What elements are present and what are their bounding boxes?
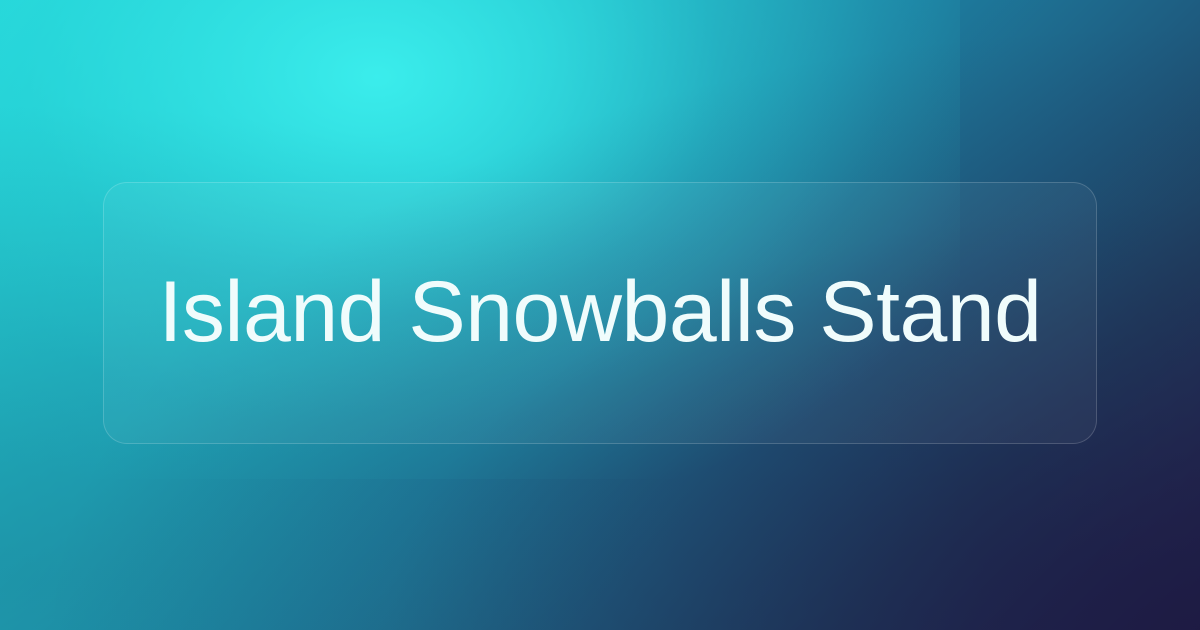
title-card: Island Snowballs Stand: [103, 182, 1097, 444]
share-banner: Island Snowballs Stand: [0, 0, 1200, 630]
page-title: Island Snowballs Stand: [152, 264, 1048, 361]
